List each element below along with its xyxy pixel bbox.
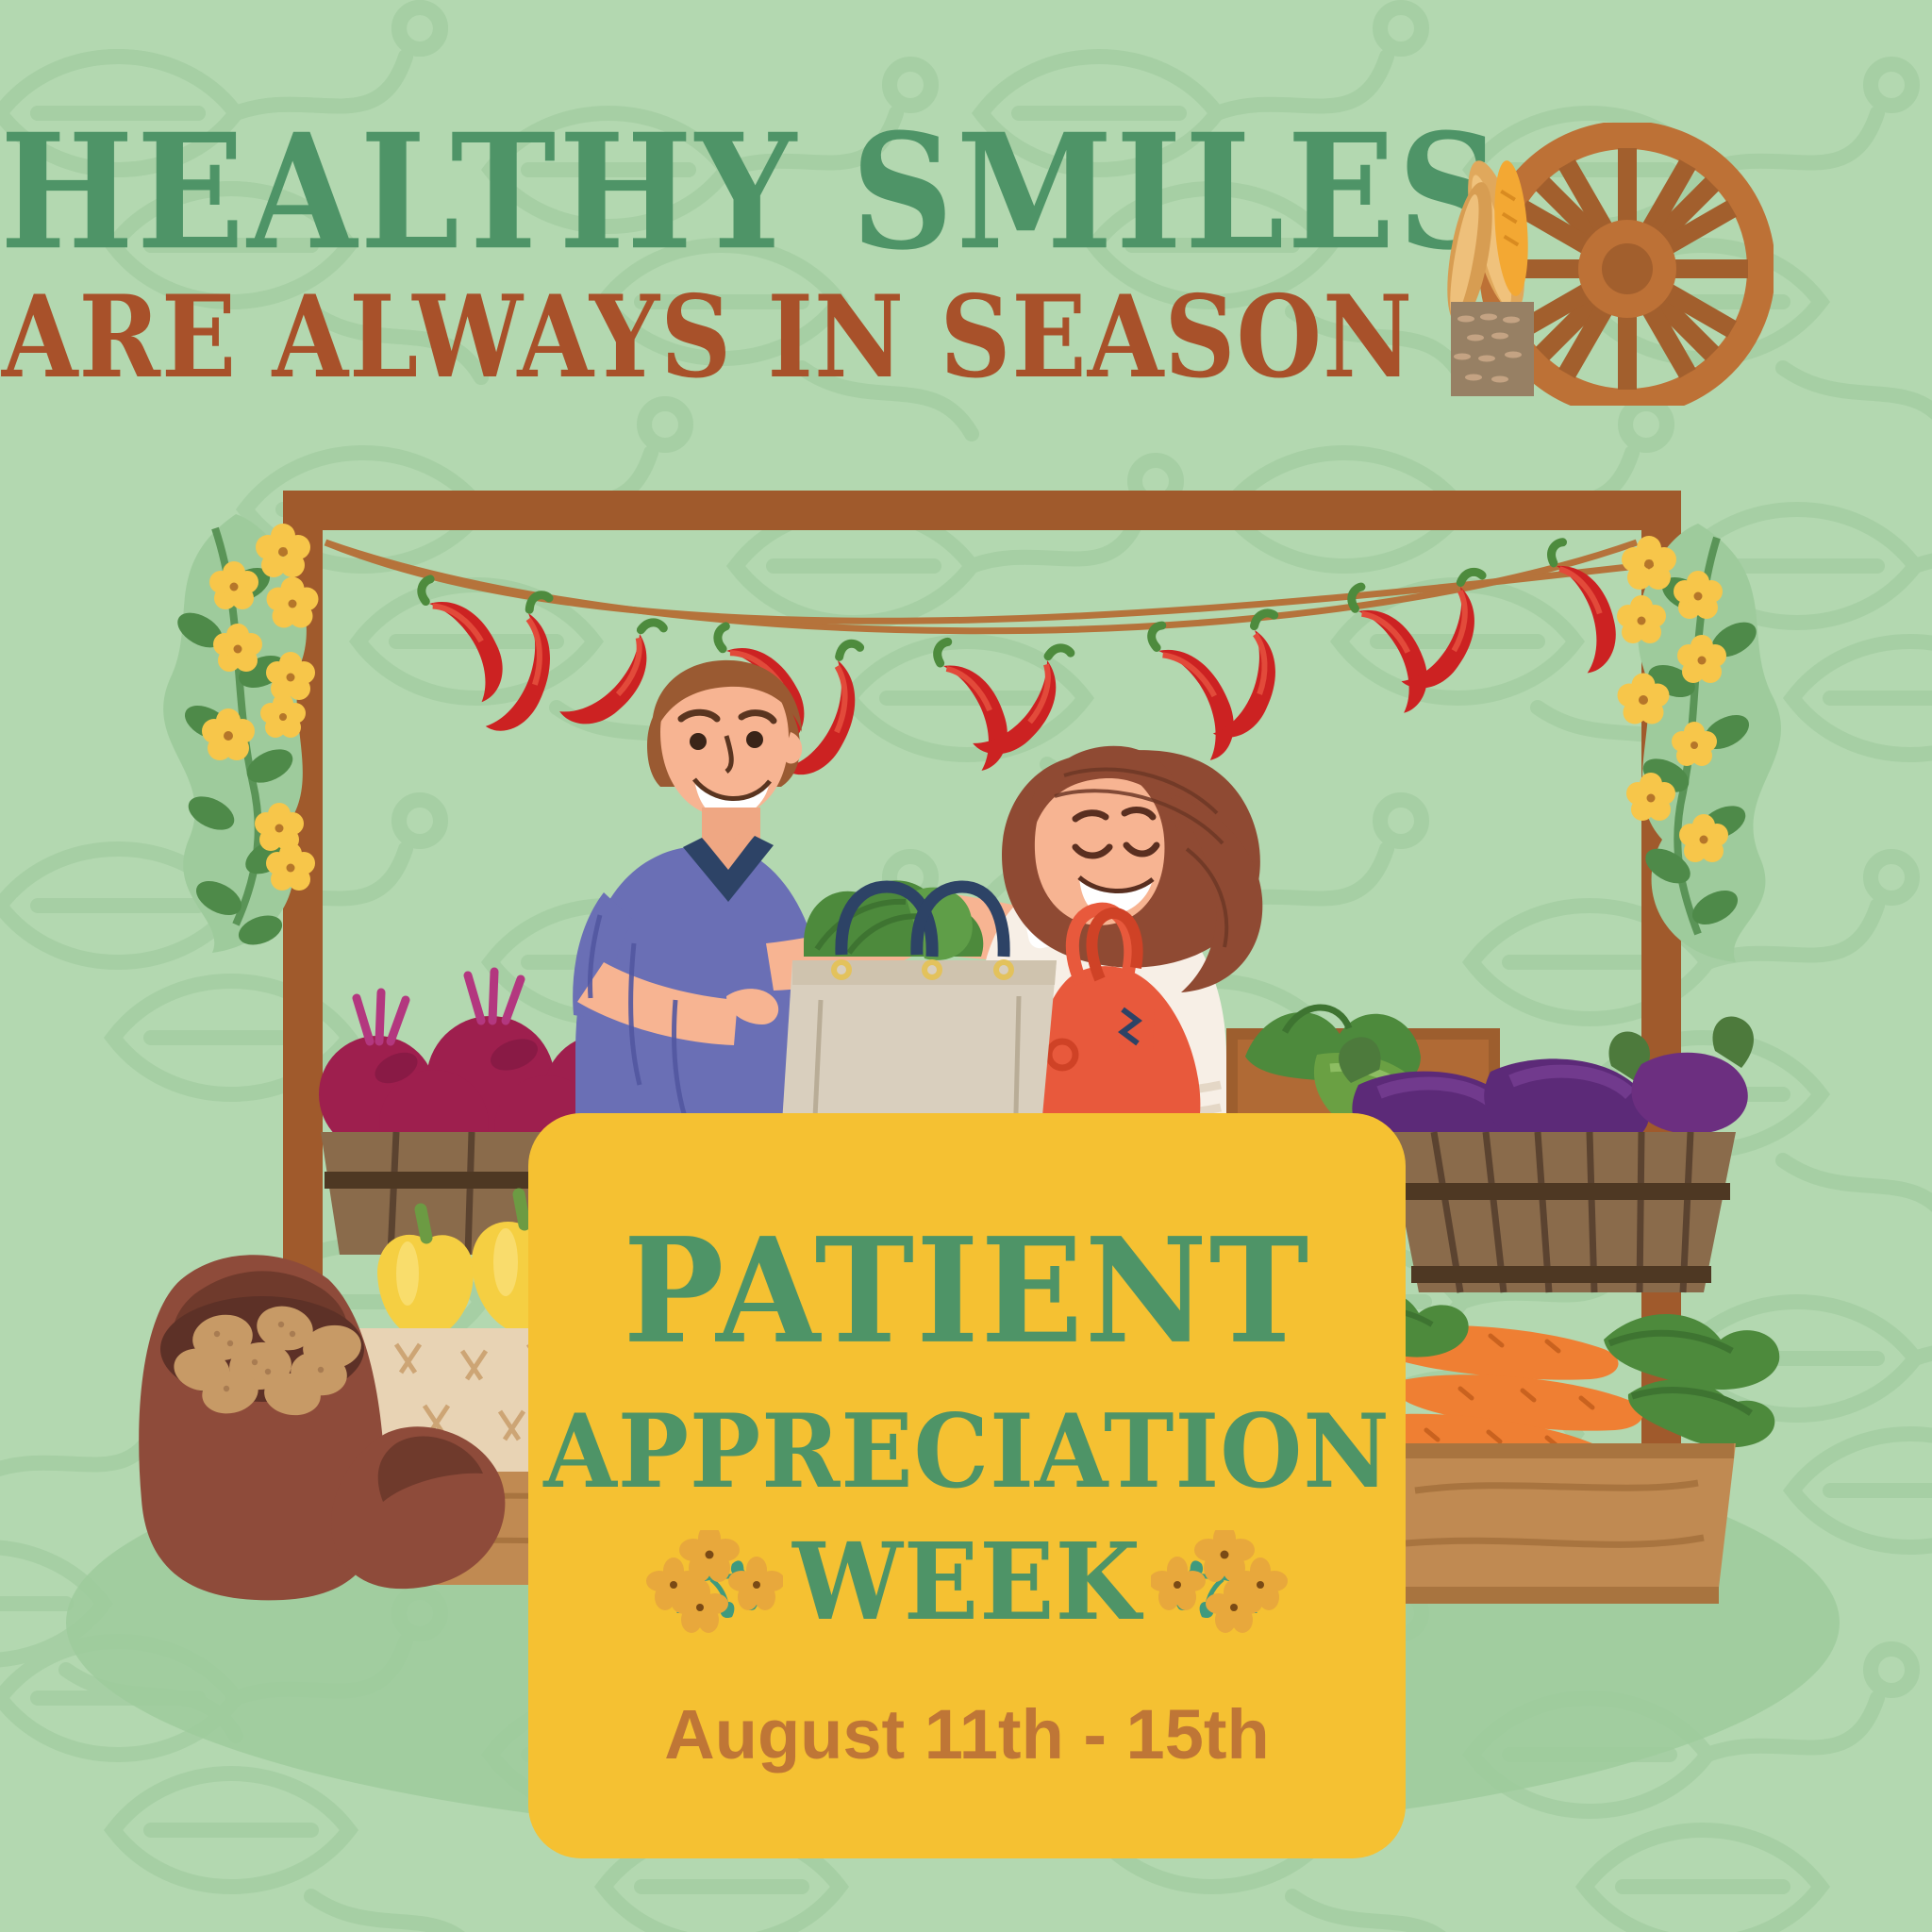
card-title-line1: PATIENT (528, 1219, 1406, 1363)
card-week-row: WEEK (528, 1530, 1406, 1634)
announcement-card: PATIENT APPRECIATION (528, 1113, 1406, 1858)
floral-sprig-icon-left (641, 1530, 783, 1634)
flowering-vine-left (163, 514, 318, 953)
poster-canvas: HEALTHY SMILES ARE ALWAYS IN SEASON (0, 0, 1932, 1932)
card-title-line3: WEEK (792, 1529, 1141, 1635)
floral-sprig-icon-right (1151, 1530, 1292, 1634)
wooden-bushel-basket (1387, 1132, 1736, 1292)
event-date: August 11th - 15th (528, 1694, 1406, 1774)
chili-pepper-garland (415, 534, 1627, 788)
wooden-crate-right (1368, 1443, 1736, 1604)
carrot-tops (1604, 1314, 1779, 1447)
card-title-line2: APPRECIATION (528, 1400, 1406, 1502)
